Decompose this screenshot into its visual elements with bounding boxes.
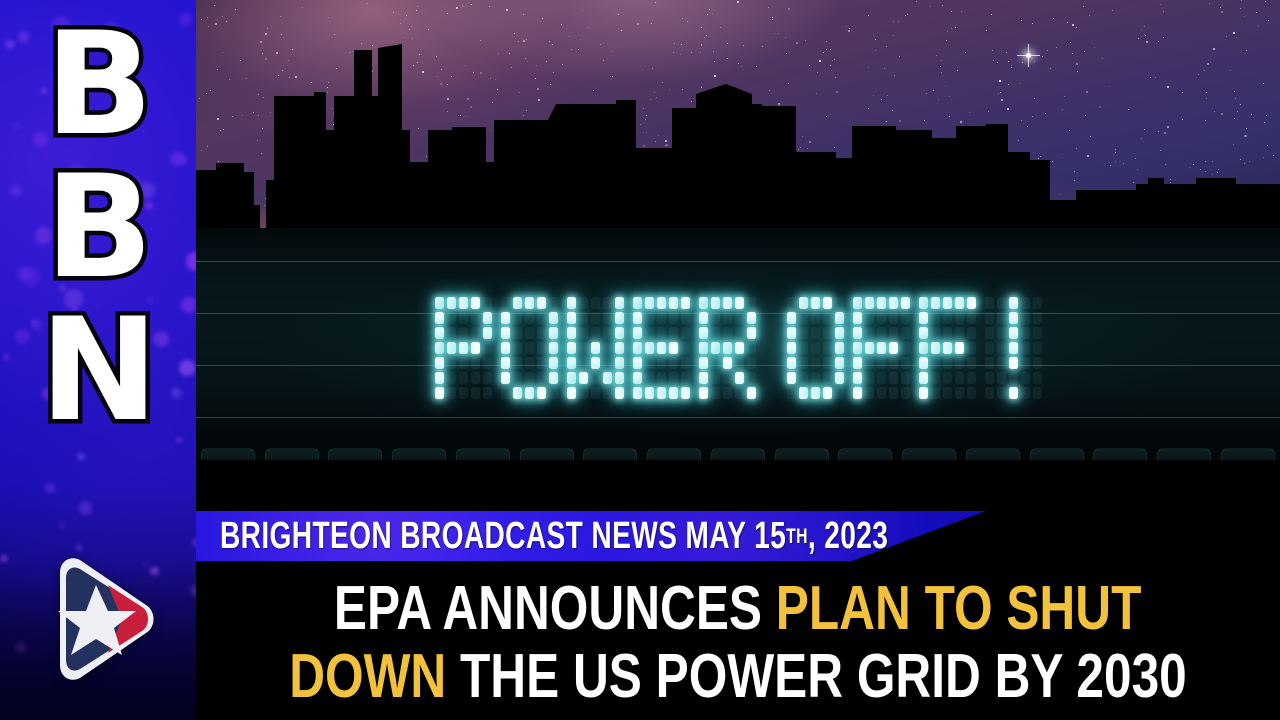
led-cell [699,312,708,324]
headline-line-1: EPA ANNOUNCES PLAN TO SHUT [334,578,1141,640]
led-cell [711,357,720,369]
led-cell [799,312,808,324]
led-cell [799,387,808,399]
led-cell [711,387,720,399]
banner-label-prefix: BRIGHTEON BROADCAST NEWS MAY 15 [220,515,786,558]
led-cell [657,342,666,354]
led-cell [853,357,862,369]
led-cell [471,297,480,309]
led-cell [735,312,744,324]
led-cell [483,357,492,369]
led-cell [699,327,708,339]
led-cell [799,357,808,369]
led-cell [501,387,510,399]
led-cell [997,327,1006,339]
led-cell [955,372,964,384]
led-cell [787,327,796,339]
led-cell [447,327,456,339]
led-cell [853,312,862,324]
led-cell [633,297,642,309]
led-cell [549,342,558,354]
led-cell [669,372,678,384]
led-cell [1033,357,1042,369]
led-cell [735,372,744,384]
led-cell [525,372,534,384]
led-cell [723,387,732,399]
led-cell [931,327,940,339]
led-cell [681,312,690,324]
led-cell [1033,297,1042,309]
led-cell [525,297,534,309]
led-cell [549,312,558,324]
led-cell [603,342,612,354]
led-cell [483,342,492,354]
led-cell [799,297,808,309]
led-cell [919,357,928,369]
led-cell [811,357,820,369]
led-cell [853,297,862,309]
led-cell [579,327,588,339]
led-cell [615,327,624,339]
led-cell [567,312,576,324]
led-cell [549,327,558,339]
led-cell [889,327,898,339]
led-cell [723,372,732,384]
led-cell [799,342,808,354]
led-cell [985,312,994,324]
led-cell [931,297,940,309]
led-cell [567,357,576,369]
led-cell [633,312,642,324]
led-cell [657,387,666,399]
led-cell [537,342,546,354]
led-cell [997,357,1006,369]
led-cell [735,342,744,354]
led-cell [645,357,654,369]
led-cell [997,372,1006,384]
led-cell [657,312,666,324]
led-cell [579,297,588,309]
led-cell [435,312,444,324]
led-cell [525,312,534,324]
led-cell [435,372,444,384]
led-cell [591,312,600,324]
led-cell [901,342,910,354]
led-char [851,296,911,401]
headline-plain-start: EPA ANNOUNCES [334,574,776,643]
led-cell [591,297,600,309]
led-cell [1021,312,1030,324]
led-cell [603,357,612,369]
led-cell [865,372,874,384]
led-cell [889,357,898,369]
led-cell [877,312,886,324]
video-thumbnail: B B N [0,0,1280,720]
led-cell [985,297,994,309]
led-char [499,296,559,401]
led-cell [657,297,666,309]
led-cell [835,372,844,384]
led-cell [435,357,444,369]
led-cell [567,327,576,339]
led-cell [603,387,612,399]
show-date-banner: BRIGHTEON BROADCAST NEWS MAY 15TH, 2023 [196,511,986,561]
led-cell [459,327,468,339]
led-cell [471,342,480,354]
led-cell [579,372,588,384]
headline-line-2: DOWN THE US POWER GRID BY 2030 [289,646,1187,708]
led-cell [483,387,492,399]
led-cell [657,327,666,339]
led-cell [823,327,832,339]
led-cell [615,387,624,399]
led-cell [735,357,744,369]
led-cell [955,342,964,354]
led-cell [657,357,666,369]
led-cell [1021,297,1030,309]
led-cell [591,327,600,339]
led-cell [865,387,874,399]
led-cell [901,387,910,399]
led-cell [835,312,844,324]
led-cell [955,387,964,399]
led-cell [1009,342,1018,354]
led-cell [889,312,898,324]
led-cell [591,357,600,369]
brand-sidebar: B B N [0,0,196,720]
led-cell [877,297,886,309]
led-cell [501,327,510,339]
led-cell [567,387,576,399]
led-cell [931,342,940,354]
led-cell [735,387,744,399]
led-cell [603,372,612,384]
led-cell [681,357,690,369]
led-cell [967,312,976,324]
led-cell [657,372,666,384]
led-cell [723,312,732,324]
led-cell [985,387,994,399]
led-cell [525,387,534,399]
led-cell [955,312,964,324]
led-cell [955,297,964,309]
led-cell [735,327,744,339]
led-cell [865,312,874,324]
led-cell [633,357,642,369]
led-cell [711,342,720,354]
led-cell [747,387,756,399]
headline-highlight-1: PLAN TO SHUT [776,574,1142,643]
led-cell [549,357,558,369]
led-cell [943,357,952,369]
led-cell [549,297,558,309]
led-cell [435,387,444,399]
led-cell [853,327,862,339]
led-cell [645,312,654,324]
led-cell [811,312,820,324]
led-cell [835,357,844,369]
headline-highlight-2: DOWN [289,642,446,711]
led-cell [537,297,546,309]
led-cell [669,312,678,324]
led-cell [537,357,546,369]
led-cell [447,357,456,369]
led-cell [681,342,690,354]
led-cell [513,357,522,369]
led-cell [901,357,910,369]
led-cell [943,312,952,324]
led-cell [835,297,844,309]
brighteon-play-star-logo [30,549,170,689]
led-cell [459,372,468,384]
led-cell [955,327,964,339]
led-cell [811,327,820,339]
led-cell [513,342,522,354]
led-cell [723,327,732,339]
led-cell [823,312,832,324]
led-cell [985,342,994,354]
led-cell [811,387,820,399]
led-cell [447,312,456,324]
led-cell [747,327,756,339]
led-cell [669,342,678,354]
led-cell [459,357,468,369]
led-cell [811,297,820,309]
led-cell [633,342,642,354]
led-cell [787,372,796,384]
led-cell [967,327,976,339]
led-cell [1021,327,1030,339]
led-cell [459,297,468,309]
led-cell [865,327,874,339]
led-cell [919,372,928,384]
led-cell [747,372,756,384]
led-cell [513,297,522,309]
led-cell [985,357,994,369]
led-cell [669,357,678,369]
led-cell [747,312,756,324]
led-cell [865,342,874,354]
led-cell [447,372,456,384]
led-cell [967,357,976,369]
led-cell [567,297,576,309]
led-cell [537,327,546,339]
led-cell [985,372,994,384]
led-cell [931,372,940,384]
led-cell [997,312,1006,324]
led-cell [471,312,480,324]
led-cell [567,372,576,384]
led-cell [681,372,690,384]
led-cell [579,387,588,399]
led-cell [787,387,796,399]
led-cell [645,327,654,339]
led-cell [435,327,444,339]
led-cell [889,342,898,354]
led-cell [1033,387,1042,399]
led-char [785,296,845,401]
led-cell [579,357,588,369]
led-cell [633,372,642,384]
led-cell [1009,312,1018,324]
led-cell [645,372,654,384]
led-char [631,296,691,401]
led-cell [537,372,546,384]
led-cell [877,387,886,399]
led-cell [459,342,468,354]
banner-label: BRIGHTEON BROADCAST NEWS MAY 15TH, 2023 [220,511,888,561]
led-cell [919,342,928,354]
led-cell [823,342,832,354]
led-cell [567,342,576,354]
led-cell [931,357,940,369]
led-cell [967,297,976,309]
led-cell [877,357,886,369]
scene-photo [196,0,1280,500]
led-cell [967,342,976,354]
led-cell [471,327,480,339]
led-cell [865,297,874,309]
led-cell [591,387,600,399]
led-cell [787,357,796,369]
led-cell [603,297,612,309]
led-cell [747,297,756,309]
led-cell [603,327,612,339]
bbn-wordmark: B B N [0,18,196,518]
led-cell [711,372,720,384]
led-cell [943,297,952,309]
led-cell [669,297,678,309]
led-cell [723,357,732,369]
led-char [433,296,493,401]
led-cell [1009,357,1018,369]
led-matrix-text [196,253,1280,443]
led-cell [811,342,820,354]
led-cell [811,372,820,384]
led-cell [919,327,928,339]
led-cell [901,327,910,339]
led-cell [501,312,510,324]
led-cell [919,387,928,399]
led-cell [579,342,588,354]
led-cell [931,387,940,399]
led-char [697,296,757,401]
led-cell [919,312,928,324]
led-cell [615,312,624,324]
led-cell [459,312,468,324]
led-cell [877,327,886,339]
led-cell [615,372,624,384]
led-cell [537,312,546,324]
led-cell [901,297,910,309]
led-cell [525,327,534,339]
led-cell [997,297,1006,309]
led-cell [901,372,910,384]
led-cell [615,342,624,354]
led-cell [681,327,690,339]
led-cell [1021,387,1030,399]
led-cell [889,297,898,309]
led-cell [967,372,976,384]
led-cell [1033,372,1042,384]
led-cell [699,387,708,399]
led-cell [955,357,964,369]
led-cell [471,372,480,384]
led-cell [549,387,558,399]
led-cell [1033,342,1042,354]
led-cell [747,342,756,354]
led-char [917,296,977,401]
led-cell [823,387,832,399]
city-skyline-silhouette [196,0,1280,250]
banner-label-suffix: , 2023 [808,515,888,558]
led-cell [447,297,456,309]
led-cell [1009,387,1018,399]
led-cell [513,387,522,399]
led-cell [435,297,444,309]
led-cell [787,312,796,324]
led-cell [645,342,654,354]
led-cell [799,372,808,384]
led-cell [1021,357,1030,369]
led-cell [471,357,480,369]
led-cell [711,327,720,339]
led-cell [835,327,844,339]
led-cell [459,387,468,399]
led-cell [931,312,940,324]
led-cell [699,357,708,369]
led-cell [1009,372,1018,384]
led-cell [645,297,654,309]
led-cell [823,372,832,384]
led-cell [997,342,1006,354]
led-cell [711,297,720,309]
led-cell [579,312,588,324]
led-cell [943,342,952,354]
headline-plain-end: THE US POWER GRID BY 2030 [446,642,1187,711]
led-cell [1021,342,1030,354]
led-cell [901,312,910,324]
led-cell [513,312,522,324]
led-cell [943,387,952,399]
led-cell [681,387,690,399]
led-cell [591,342,600,354]
brand-letter-n: N [40,304,157,439]
led-cell [1033,312,1042,324]
led-cell [513,327,522,339]
led-char [983,296,1043,401]
led-cell [615,357,624,369]
led-cell [549,372,558,384]
brand-letter-b2: B [45,161,151,296]
led-cell [483,327,492,339]
led-cell [699,297,708,309]
led-cell [645,387,654,399]
brand-letter-b1: B [45,18,151,153]
led-char [565,296,625,401]
led-cell [835,387,844,399]
led-cell [877,342,886,354]
led-cell [787,342,796,354]
led-cell [877,372,886,384]
led-cell [699,342,708,354]
led-cell [483,372,492,384]
led-cell [889,387,898,399]
led-cell [967,387,976,399]
led-cell [943,327,952,339]
led-cell [681,297,690,309]
led-cell [501,342,510,354]
